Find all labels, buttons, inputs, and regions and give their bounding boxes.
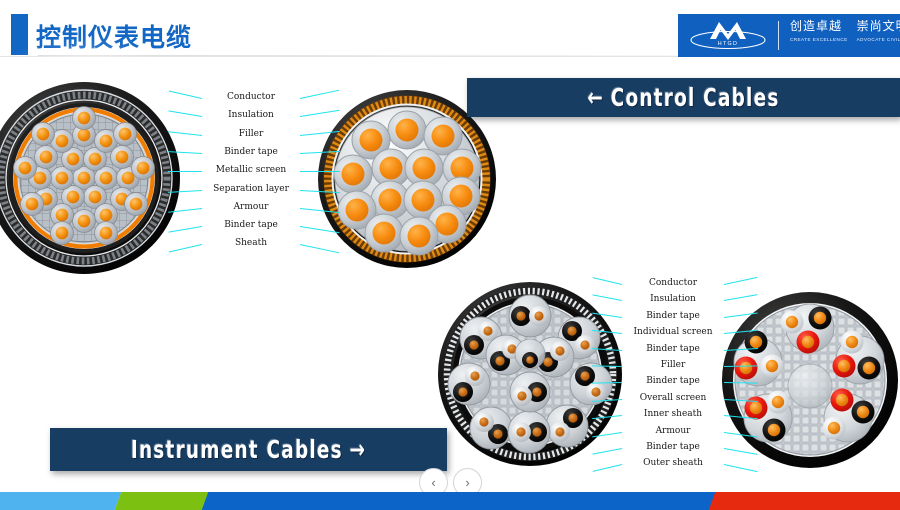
pair-bundle <box>448 295 612 453</box>
chevron-left-icon: ‹ <box>431 476 435 489</box>
chevron-right-icon: › <box>465 476 469 489</box>
slogan-cn-2: 崇尚文明 <box>857 18 900 34</box>
section-banner-instrument[interactable]: Instrument Cables → <box>50 428 447 471</box>
footer-segment-4 <box>709 492 900 510</box>
control-arrow-icon: ← <box>587 83 604 112</box>
callout-label: Binder tape <box>625 344 721 354</box>
title-accent-bar <box>11 14 28 55</box>
callout-label: Conductor <box>625 278 721 288</box>
callout-label: Outer sheath <box>625 458 721 468</box>
footer-segment-1 <box>0 492 121 510</box>
cable-cross-section-control-multicore <box>0 80 182 276</box>
logo-divider <box>778 21 779 50</box>
callout-label: Conductor <box>205 92 297 102</box>
callout-label: Armour <box>625 426 721 436</box>
instrument-banner-label: Instrument Cables <box>131 435 343 464</box>
htgd-logo-icon: HTGD <box>688 19 768 52</box>
slide-canvas: 控制仪表电缆 HTGD 创造卓越 CREATE EXCELLENCE 崇尚文明 … <box>0 0 900 510</box>
page-title: 控制仪表电缆 <box>36 18 192 54</box>
callout-label: Filler <box>205 129 297 139</box>
cable-cross-section-instrument-triads <box>720 290 900 470</box>
footer-segment-3 <box>202 492 734 510</box>
callout-label: Inner sheath <box>625 409 721 419</box>
section-banner-control[interactable]: ← Control Cables <box>467 78 900 117</box>
callout-label: Binder tape <box>625 311 721 321</box>
control-banner-label: Control Cables <box>611 83 780 112</box>
leader-line <box>168 171 202 172</box>
callout-label: Insulation <box>205 110 297 120</box>
callout-label: Individual screen <box>625 327 721 337</box>
callout-label: Separation layer <box>205 184 297 194</box>
callout-label: Overall screen <box>625 393 721 403</box>
footer-color-strip <box>0 492 900 510</box>
cable-cross-section-instrument-pairs <box>436 280 624 468</box>
logo-slogan-block: 创造卓越 CREATE EXCELLENCE 崇尚文明 ADVOCATE CIV… <box>790 18 898 44</box>
instrument-arrow-icon: → <box>349 435 366 464</box>
callout-label: Binder tape <box>205 220 297 230</box>
leader-line <box>300 171 340 172</box>
callout-label: Filler <box>625 360 721 370</box>
callout-label: Armour <box>205 202 297 212</box>
slogan-en-2: ADVOCATE CIVILIZATION <box>857 36 900 44</box>
callout-label: Insulation <box>625 294 721 304</box>
slogan-en-1: CREATE EXCELLENCE <box>790 36 848 44</box>
slogan-cn-1: 创造卓越 <box>790 18 848 34</box>
callout-label: Binder tape <box>205 147 297 157</box>
callout-label: Sheath <box>205 238 297 248</box>
leader-line <box>724 277 757 285</box>
htgd-wordmark: HTGD <box>718 41 738 47</box>
callout-label: Binder tape <box>625 376 721 386</box>
callout-label: Binder tape <box>625 442 721 452</box>
company-logo-banner: HTGD 创造卓越 CREATE EXCELLENCE 崇尚文明 ADVOCAT… <box>678 14 900 57</box>
callout-label: Metallic screen <box>205 165 297 175</box>
